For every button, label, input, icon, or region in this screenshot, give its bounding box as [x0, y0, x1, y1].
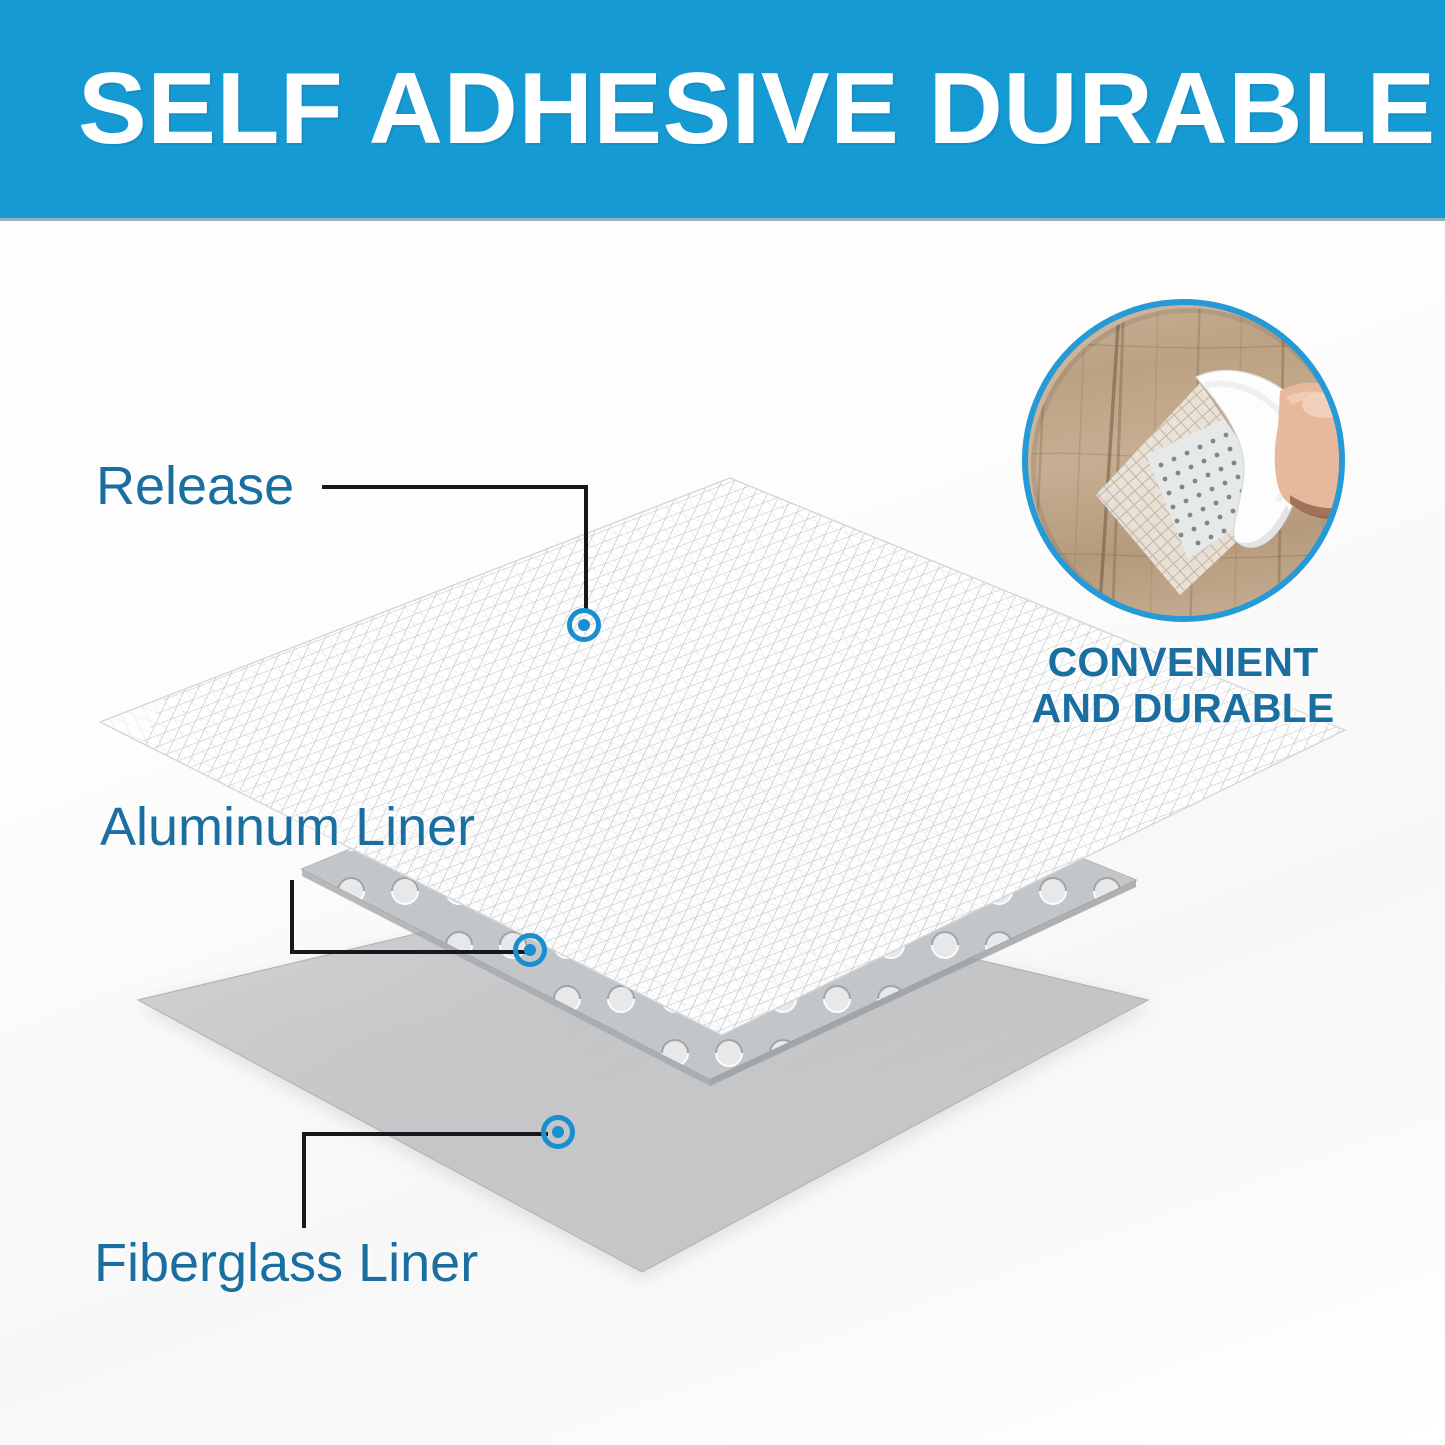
- inset-caption-line-2: AND DURABLE: [1018, 686, 1348, 732]
- banner-divider: [0, 218, 1445, 221]
- target-marker-fiberglass: [541, 1115, 575, 1149]
- target-marker-release: [567, 608, 601, 642]
- leader-line-aluminum: [290, 880, 530, 958]
- peel-demo-photo: [1028, 305, 1345, 622]
- label-release: Release: [96, 459, 294, 513]
- inset-caption-line-1: CONVENIENT: [1018, 640, 1348, 686]
- leader-line-fiberglass: [302, 1132, 552, 1232]
- infographic-canvas: SELF ADHESIVE DURABLE Release Aluminum L…: [0, 0, 1445, 1445]
- inset-caption: CONVENIENT AND DURABLE: [1018, 640, 1348, 732]
- target-marker-aluminum: [513, 933, 547, 967]
- label-aluminum-liner: Aluminum Liner: [100, 800, 475, 854]
- label-fiberglass-liner: Fiberglass Liner: [94, 1236, 478, 1290]
- page-title: SELF ADHESIVE DURABLE: [78, 59, 1436, 160]
- leader-line-release: [322, 485, 590, 625]
- product-photo-inset: [1022, 299, 1345, 622]
- header-banner: SELF ADHESIVE DURABLE: [0, 0, 1445, 218]
